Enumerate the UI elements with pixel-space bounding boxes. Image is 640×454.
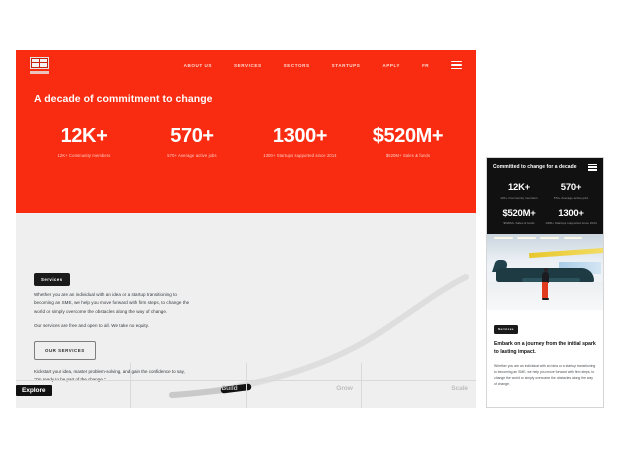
stage-label-scale[interactable]: Scale: [451, 385, 468, 392]
stat-item: $520M+ $520M+ Sales & funds: [493, 209, 545, 226]
stage-rail: Explore Build Grow Scale: [16, 380, 476, 408]
stat-item: $520M+ $520M+ Sales & funds: [354, 126, 462, 159]
stat-caption: $520M+ Sales & funds: [354, 153, 462, 159]
mobile-heading: Embark on a journey from the initial spa…: [494, 341, 596, 357]
stat-item: 1300+ 1300+ Startups supported since 201…: [246, 126, 354, 159]
stat-item: 12K+ 12K+ Community members: [493, 183, 545, 200]
stat-caption: 1300+ Startups supported since 2014: [545, 221, 597, 225]
hamburger-menu-icon[interactable]: [588, 164, 597, 171]
services-section: Services Whether you are an individual w…: [16, 213, 476, 408]
curve-track: [172, 277, 466, 395]
mobile-stats-grid: 12K+ 12K+ Community members 570+ 570+ Av…: [487, 176, 603, 234]
stat-item: 570+ 570+ Average active jobs: [545, 183, 597, 200]
stat-value: $520M+: [354, 126, 462, 146]
stage-cell-grow[interactable]: Grow: [246, 381, 361, 408]
stat-item: 1300+ 1300+ Startups supported since 201…: [545, 209, 597, 226]
stat-caption: 1300+ Startups supported since 2014: [246, 153, 354, 159]
hamburger-menu-icon[interactable]: [451, 61, 462, 70]
stat-value: 570+: [545, 183, 597, 193]
nav-item-services[interactable]: SERVICES: [234, 63, 262, 68]
stat-item: 12K+ 12K+ Community members: [30, 126, 138, 159]
nav-item-startups[interactable]: STARTUPS: [332, 63, 361, 68]
stage-cell-scale[interactable]: Scale: [361, 381, 476, 408]
stat-value: 1300+: [545, 209, 597, 219]
stat-value: 12K+: [493, 183, 545, 193]
stat-value: $520M+: [493, 209, 545, 219]
stat-caption: $520M+ Sales & funds: [493, 221, 545, 225]
hero-section: ABOUT US SERVICES SECTORS STARTUPS APPLY…: [16, 50, 476, 213]
mobile-paragraph: Whether you are an individual with an id…: [494, 363, 596, 388]
nav-item-language-fr[interactable]: FR: [422, 63, 429, 68]
stat-item: 570+ 570+ Average active jobs: [138, 126, 246, 159]
stat-caption: 12K+ Community members: [30, 153, 138, 159]
hero-stats: 12K+ 12K+ Community members 570+ 570+ Av…: [30, 126, 462, 159]
nav-item-apply[interactable]: APPLY: [382, 63, 400, 68]
mobile-services-badge: Services: [494, 325, 518, 334]
logo-icon[interactable]: [30, 57, 49, 74]
mobile-header-title: Committed to change for a decade: [493, 164, 577, 170]
nav-links: ABOUT US SERVICES SECTORS STARTUPS APPLY…: [184, 61, 476, 70]
stage-cell-explore[interactable]: Explore: [16, 381, 130, 408]
stat-caption: 570+ Average active jobs: [545, 196, 597, 200]
top-navigation-bar: ABOUT US SERVICES SECTORS STARTUPS APPLY…: [16, 50, 476, 80]
hangar-photo: [487, 234, 603, 310]
mobile-header: Committed to change for a decade: [487, 158, 603, 176]
stat-value: 1300+: [246, 126, 354, 146]
nav-item-sectors[interactable]: SECTORS: [284, 63, 310, 68]
mobile-preview: Committed to change for a decade 12K+ 12…: [486, 157, 604, 408]
stage-cell-build[interactable]: Build: [130, 381, 245, 408]
stage-label-build[interactable]: Build: [222, 385, 238, 392]
stage-label-grow[interactable]: Grow: [336, 385, 352, 392]
nav-item-about-us[interactable]: ABOUT US: [184, 63, 212, 68]
stage-label-explore[interactable]: Explore: [16, 385, 52, 396]
mobile-content: Services Embark on a journey from the in…: [487, 310, 603, 387]
stat-value: 12K+: [30, 126, 138, 146]
hero-title: A decade of commitment to change: [34, 93, 213, 105]
stat-value: 570+: [138, 126, 246, 146]
stat-caption: 12K+ Community members: [493, 196, 545, 200]
stat-caption: 570+ Average active jobs: [138, 153, 246, 159]
desktop-preview: ABOUT US SERVICES SECTORS STARTUPS APPLY…: [16, 50, 476, 408]
services-badge: Services: [34, 273, 70, 286]
our-services-button[interactable]: OUR SERVICES: [34, 341, 96, 360]
